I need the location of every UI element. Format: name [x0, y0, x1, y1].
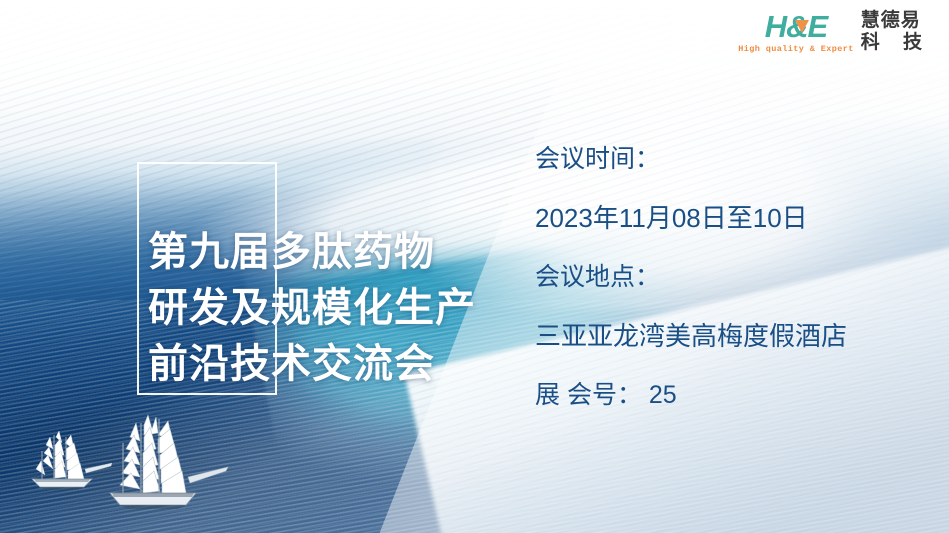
title-line-3: 前沿技术交流会: [148, 336, 476, 392]
logo-ampersand: &: [786, 9, 807, 44]
tall-ship-small-icon: [28, 427, 120, 499]
logo-chinese-name: 慧德易 科 技: [861, 10, 931, 54]
event-info-block: 会议时间： 2023年11月08日至10日 会议地点： 三亚亚龙湾美高梅度假酒店…: [535, 138, 935, 433]
logo-letter-e: E: [808, 9, 828, 44]
title-line-2: 研发及规模化生产: [148, 280, 476, 336]
title-line-1: 第九届多肽药物: [148, 224, 476, 280]
logo-tagline: High quality & Expert: [738, 44, 854, 54]
logo-he-mark: H&E: [765, 11, 827, 42]
meeting-place-value: 三亚亚龙湾美高梅度假酒店: [535, 315, 935, 374]
poster-canvas: 第九届多肽药物 研发及规模化生产 前沿技术交流会 会议时间： 2023年11月0…: [0, 0, 949, 533]
company-logo: H&E High quality & Expert 慧德易 科 技: [728, 6, 939, 58]
logo-cn-line-1: 慧德易: [861, 10, 931, 32]
meeting-time-label: 会议时间：: [535, 138, 935, 197]
booth-number: 展 会号： 25: [535, 374, 935, 433]
meeting-time-value: 2023年11月08日至10日: [535, 197, 935, 256]
logo-letter-h: H: [765, 9, 786, 44]
meeting-place-label: 会议地点：: [535, 256, 935, 315]
tall-ship-large-icon: [100, 405, 250, 515]
logo-mark-group: H&E High quality & Expert: [738, 11, 854, 54]
logo-cn-line-2: 科 技: [861, 32, 931, 54]
poster-title: 第九届多肽药物 研发及规模化生产 前沿技术交流会: [148, 224, 476, 392]
